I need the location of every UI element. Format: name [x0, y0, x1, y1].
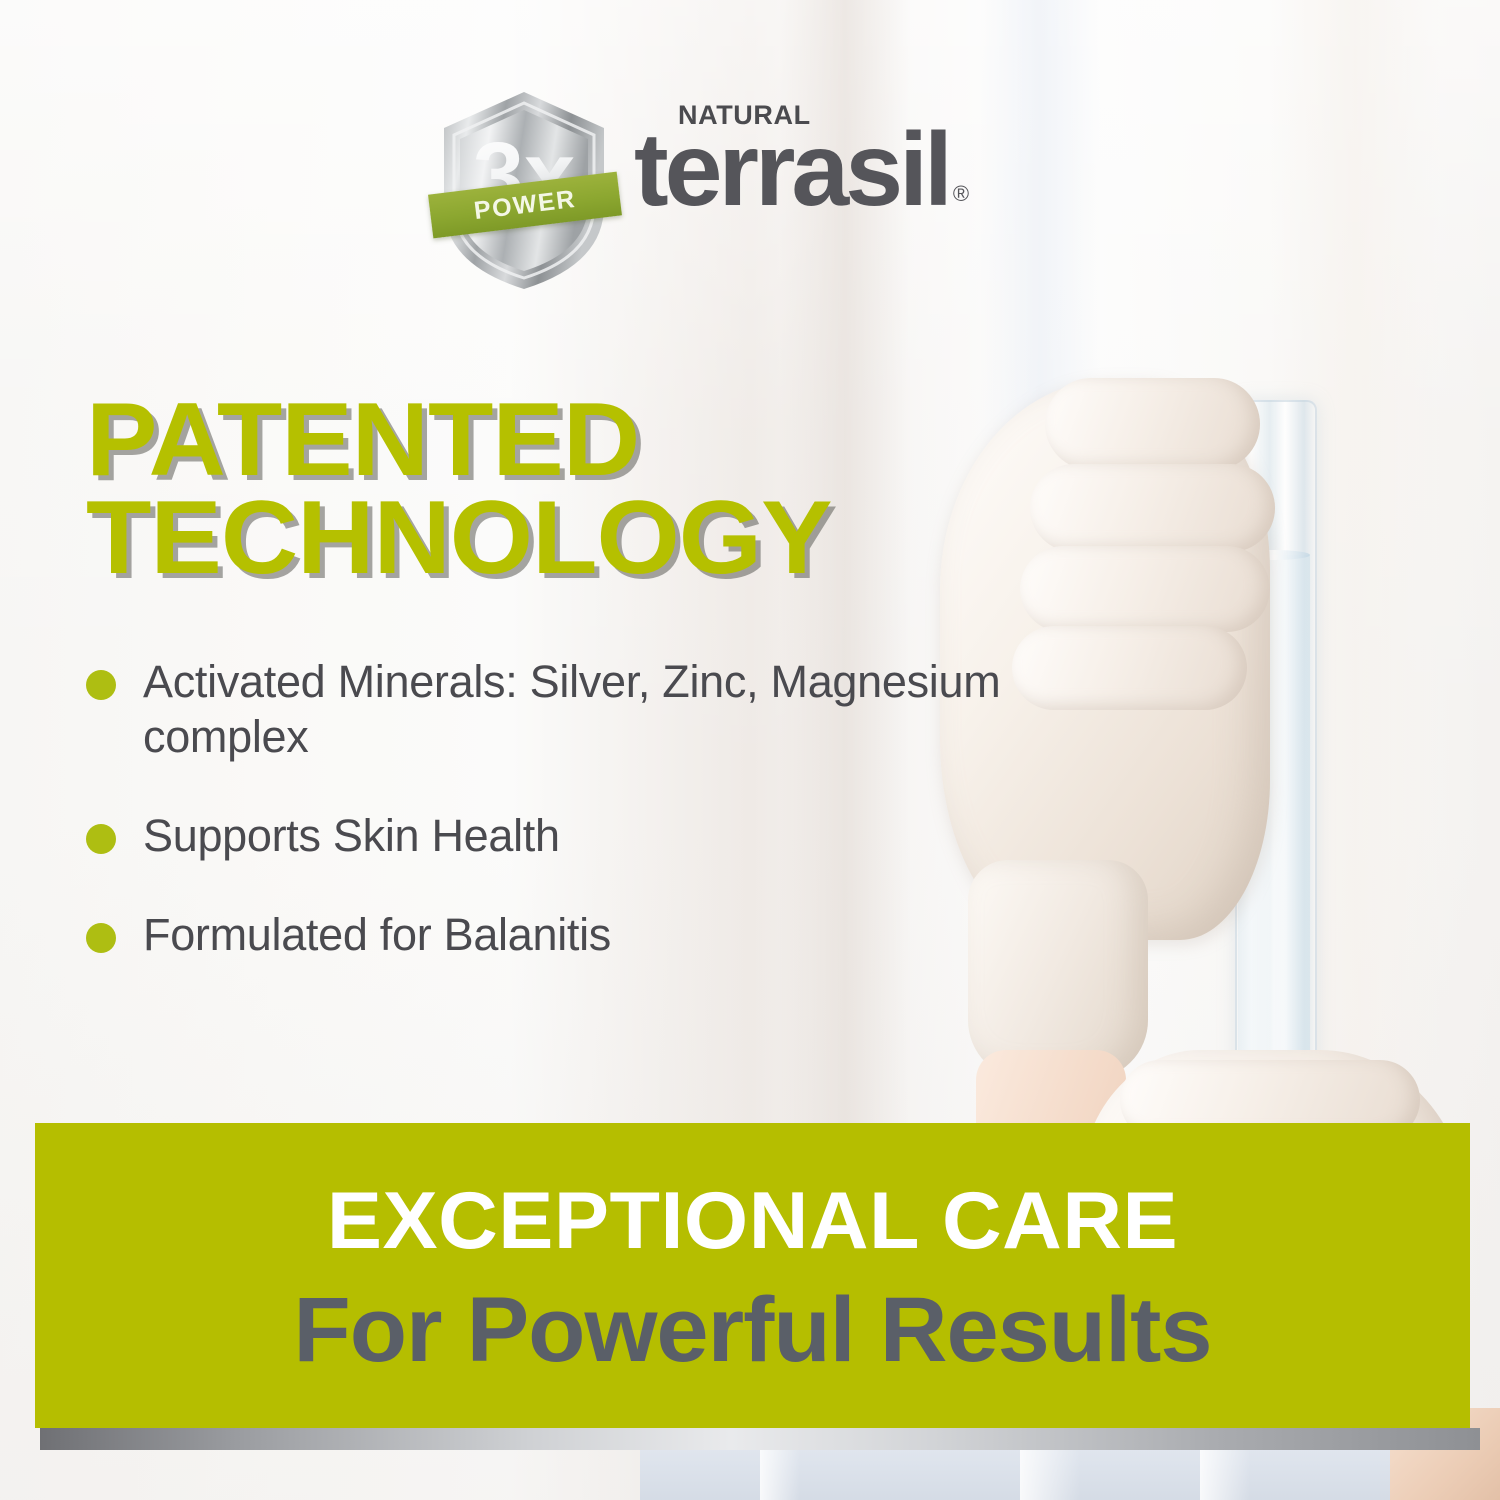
- wordmark-name-row: terrasil ®: [634, 123, 1074, 219]
- footer-banner: EXCEPTIONAL CARE For Powerful Results: [35, 1123, 1470, 1428]
- bullet-dot-icon: [86, 670, 116, 700]
- shield-icon: 3x POWER: [438, 88, 610, 293]
- registered-trademark-icon: ®: [953, 184, 965, 204]
- banner-silver-accent-bar: [40, 1428, 1480, 1450]
- power-ribbon-label: POWER: [472, 184, 577, 225]
- list-item: Supports Skin Health: [86, 809, 1016, 864]
- glove-finger-little: [1012, 626, 1247, 710]
- glove-finger-middle: [1030, 464, 1275, 552]
- wordmark-name: terrasil: [634, 123, 949, 219]
- bullet-dot-icon: [86, 923, 116, 953]
- wordmark: NATURAL terrasil ®: [634, 102, 1074, 219]
- feature-text: Activated Minerals: Silver, Zinc, Magnes…: [143, 655, 1016, 765]
- feature-text: Formulated for Balanitis: [143, 908, 611, 963]
- glove-finger-index: [1045, 378, 1260, 470]
- page-title: PATENTED TECHNOLOGY: [86, 392, 1013, 588]
- banner-subheadline: For Powerful Results: [21, 1278, 1485, 1383]
- feature-text: Supports Skin Health: [143, 809, 560, 864]
- product-infographic: 3x POWER NATURAL terrasil ® PATENTED TEC…: [0, 0, 1500, 1500]
- list-item: Activated Minerals: Silver, Zinc, Magnes…: [86, 655, 1016, 765]
- list-item: Formulated for Balanitis: [86, 908, 1016, 963]
- glove-finger-ring: [1020, 546, 1270, 632]
- brand-logo: 3x POWER NATURAL terrasil ®: [438, 88, 1078, 293]
- bullet-dot-icon: [86, 824, 116, 854]
- page-title-line-1: PATENTED: [86, 392, 1013, 490]
- page-title-line-2: TECHNOLOGY: [86, 490, 1013, 588]
- feature-list: Activated Minerals: Silver, Zinc, Magnes…: [86, 655, 1016, 1007]
- banner-headline: EXCEPTIONAL CARE: [21, 1175, 1485, 1268]
